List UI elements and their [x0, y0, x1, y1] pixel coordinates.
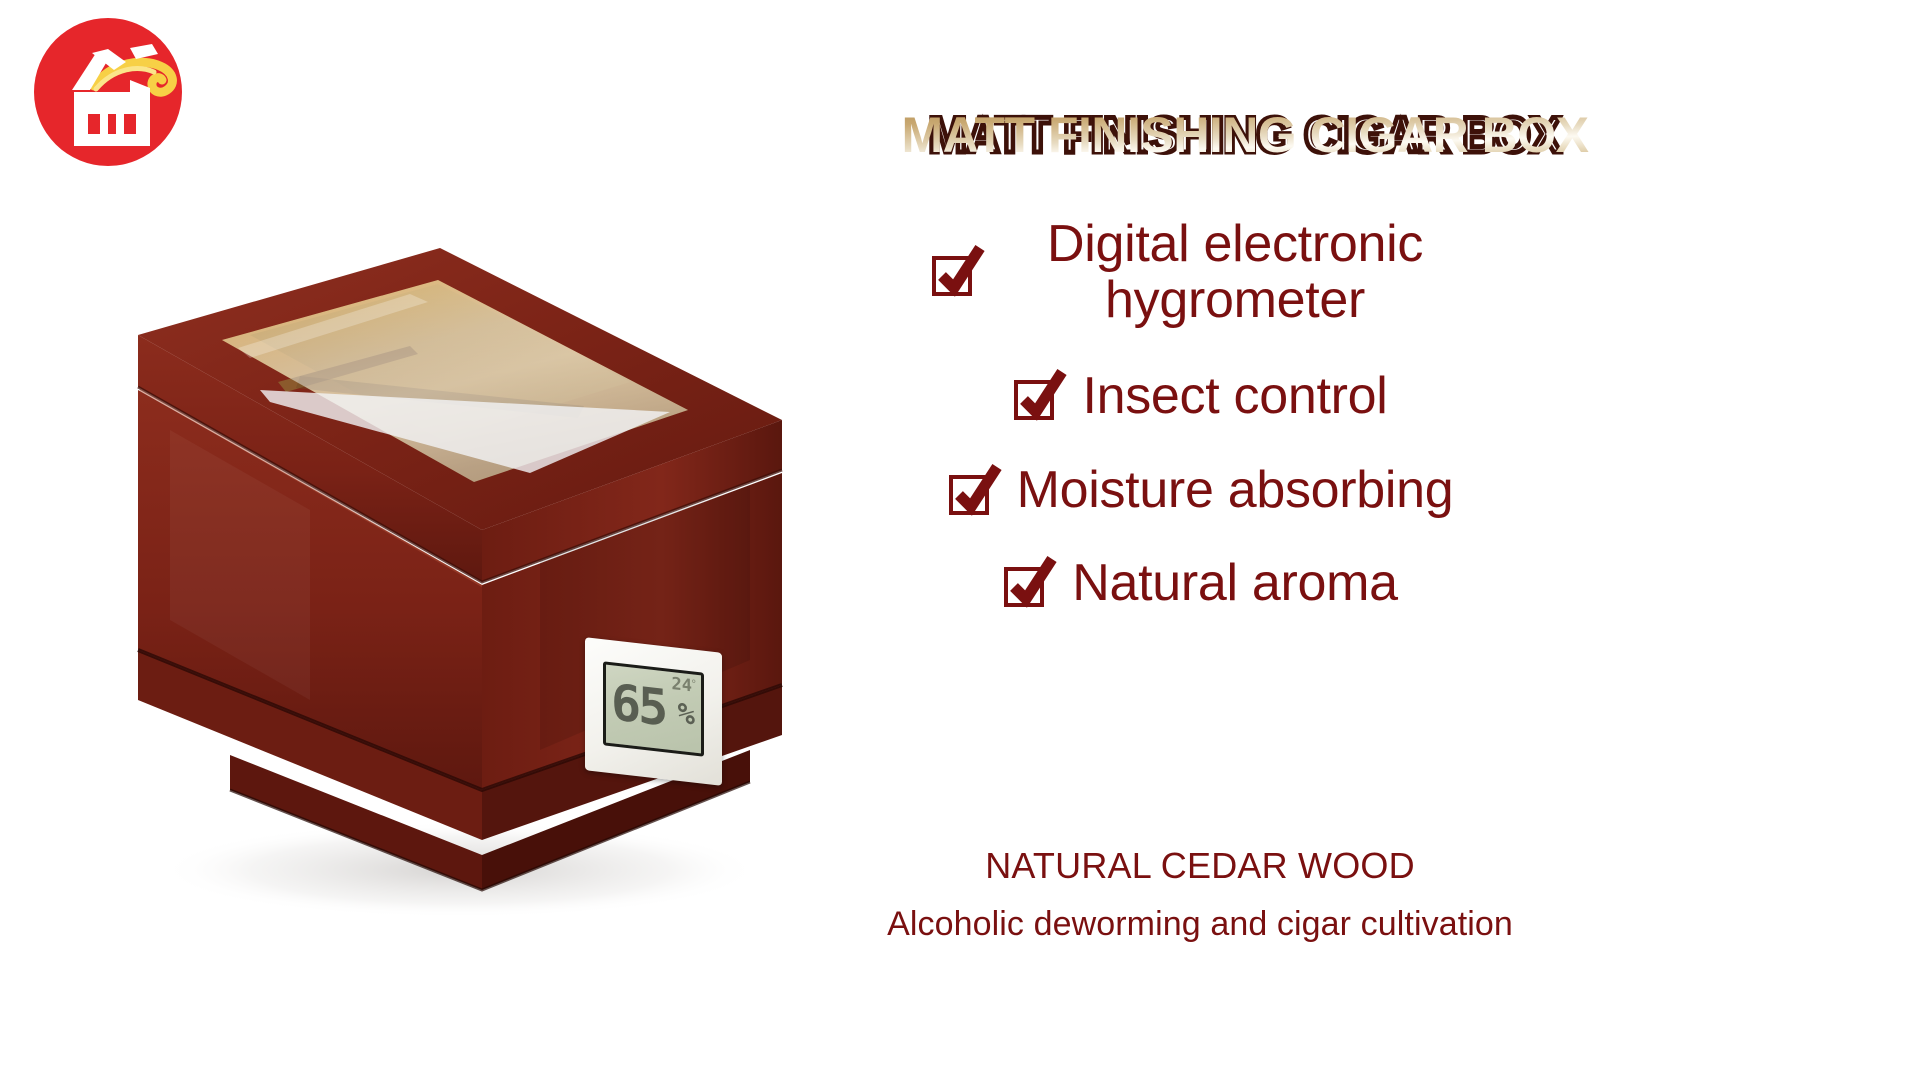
- page-title: MATT FINISHING CIGAR BOX MATT FINISHING …: [985, 104, 1505, 166]
- product-image: [110, 230, 830, 970]
- footer-line-description: Alcoholic deworming and cigar cultivatio…: [790, 905, 1610, 944]
- humidity-unit: %: [678, 699, 695, 730]
- product-marketing-banner: MATT FINISHING CIGAR BOX MATT FINISHING …: [0, 0, 1920, 1080]
- humidity-value: 65: [611, 677, 665, 733]
- page-title-text: MATT FINISHING CIGAR BOX: [901, 107, 1588, 163]
- footer-line-material: NATURAL CEDAR WOOD: [830, 845, 1570, 887]
- brand-logo: [34, 18, 182, 166]
- red-circle-house-character-logo: [34, 18, 182, 166]
- temperature-value: 24: [672, 676, 692, 695]
- feature-label: Insect control: [1082, 368, 1387, 424]
- feature-item-natural-aroma: Natural aroma: [830, 555, 1570, 611]
- feature-label: Digital electronic hygrometer: [1000, 216, 1470, 328]
- feature-list: Digital electronic hygrometer Insect con…: [830, 200, 1570, 621]
- temperature-unit: °: [690, 677, 697, 691]
- cigar-box-illustration: [110, 230, 830, 970]
- feature-item-moisture-absorbing: Moisture absorbing: [830, 462, 1570, 518]
- checkbox-check-icon: [947, 465, 999, 517]
- feature-label: Natural aroma: [1072, 555, 1398, 611]
- feature-label: Moisture absorbing: [1017, 462, 1454, 518]
- hygrometer-lcd-screen: 65 % 24 °: [603, 661, 704, 757]
- checkbox-check-icon: [930, 246, 982, 298]
- checkbox-check-icon: [1002, 557, 1054, 609]
- checkbox-check-icon: [1012, 370, 1064, 422]
- digital-hygrometer: 65 % 24 °: [585, 637, 722, 786]
- feature-item-insect-control: Insect control: [830, 368, 1570, 424]
- feature-item-digital-hygrometer: Digital electronic hygrometer: [830, 216, 1570, 328]
